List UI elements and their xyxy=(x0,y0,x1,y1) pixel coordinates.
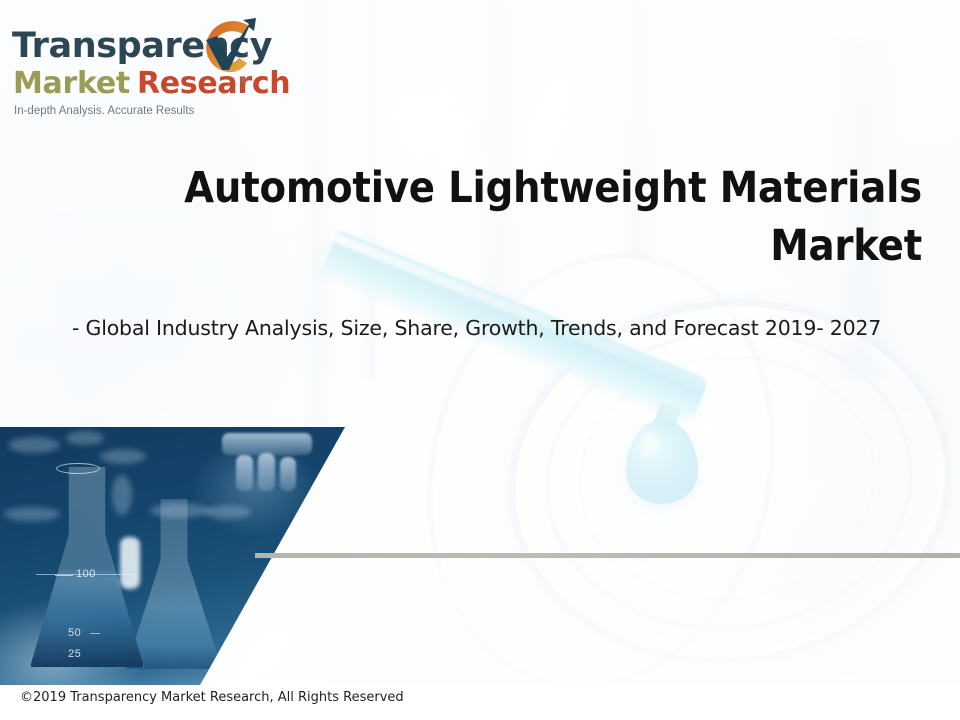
horizontal-rule xyxy=(255,553,960,558)
background-flask xyxy=(126,499,222,669)
test-tube xyxy=(258,453,275,491)
flask-tick-25: 25 xyxy=(68,648,81,660)
rack-shadow xyxy=(222,433,312,455)
flask-graduation-line xyxy=(90,633,100,634)
flask-rim xyxy=(56,463,100,474)
presentation-slide: 100 50 25 Transparency MarketResearch In… xyxy=(0,0,960,720)
slide-title-block: Automotive Lightweight Materials Market xyxy=(160,160,922,275)
blurred-apparatus xyxy=(8,437,60,453)
test-tube xyxy=(236,455,253,491)
page-title: Automotive Lightweight Materials Market xyxy=(160,160,922,275)
flask-graduation-line xyxy=(55,575,73,576)
blurred-apparatus xyxy=(205,505,251,519)
test-tube xyxy=(280,457,296,491)
copyright-notice: ©2019 Transparency Market Research, All … xyxy=(20,690,404,705)
blurred-apparatus xyxy=(4,507,60,521)
logo-word-market: Market xyxy=(13,66,130,101)
blurred-apparatus xyxy=(112,475,132,515)
brand-logo[interactable]: Transparency MarketResearch In-depth Ana… xyxy=(12,26,272,126)
blurred-apparatus xyxy=(66,431,104,445)
slide-subtitle: - Global Industry Analysis, Size, Share,… xyxy=(72,316,940,340)
checkmark-arrow-icon xyxy=(194,10,266,82)
flask-tick-50: 50 xyxy=(68,627,81,639)
logo-tagline: In-depth Analysis. Accurate Results xyxy=(14,105,194,117)
title-line-2: Market xyxy=(770,221,922,271)
flask-tick-100: 100 xyxy=(76,568,96,580)
blurred-apparatus xyxy=(100,449,146,464)
title-line-1: Automotive Lightweight Materials xyxy=(184,163,922,213)
flask-highlight xyxy=(120,537,140,589)
